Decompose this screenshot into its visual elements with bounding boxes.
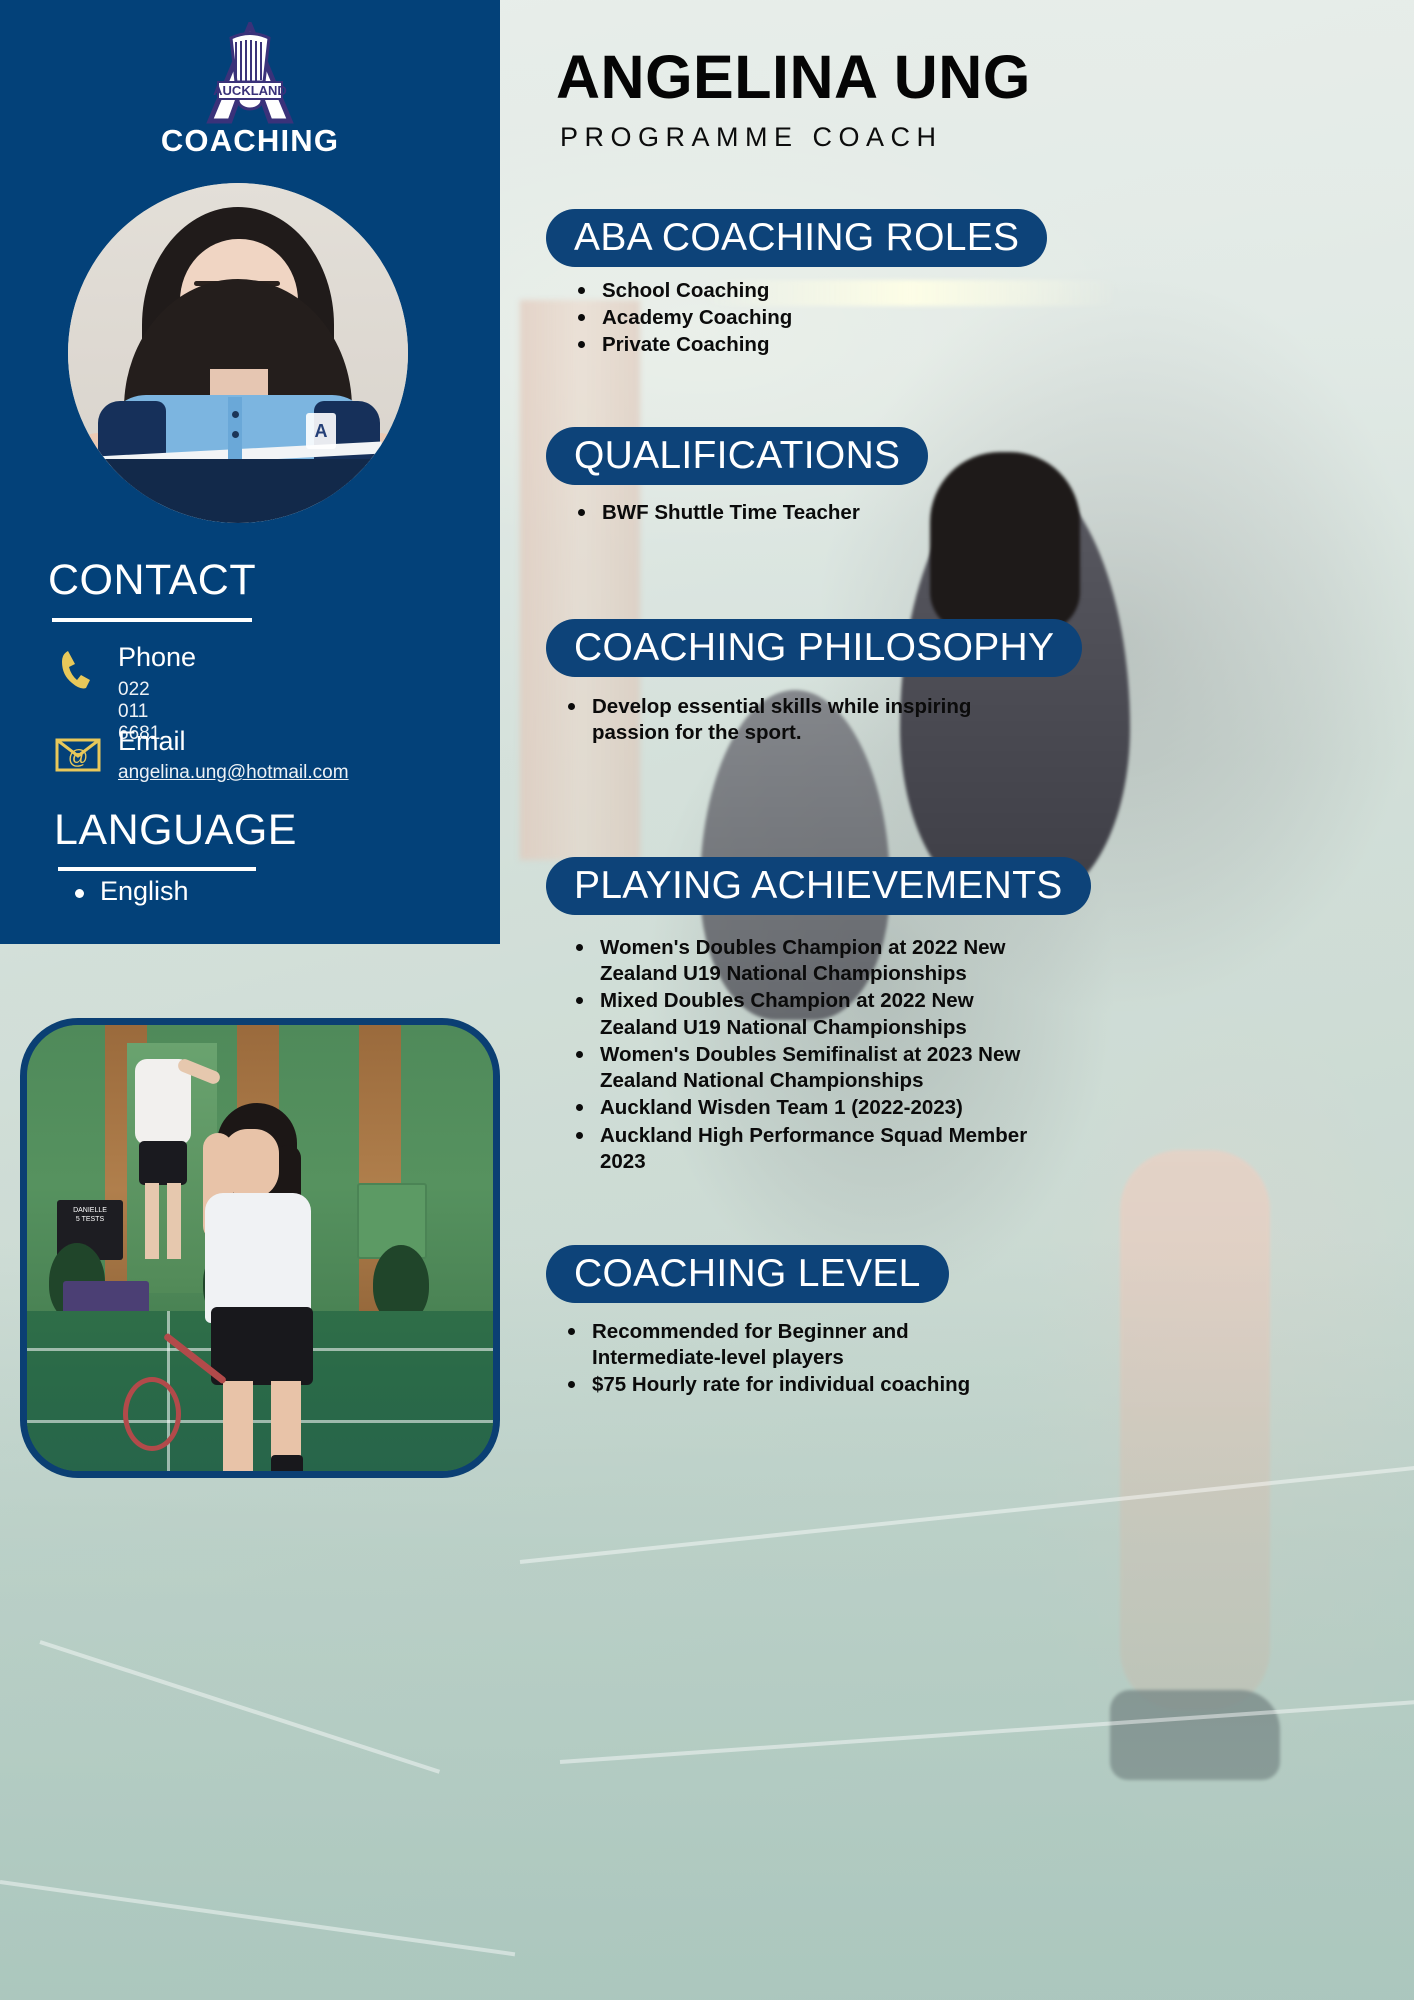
list-item: BWF Shuttle Time Teacher: [572, 500, 1212, 526]
list-item: Develop essential skills while inspiring…: [562, 694, 1022, 746]
language-bullet: [75, 889, 84, 898]
contact-heading: CONTACT: [48, 556, 256, 605]
list-item: Private Coaching: [572, 332, 1212, 358]
email-value[interactable]: angelina.ung@hotmail.com: [118, 762, 349, 784]
section-title-qualifications: QUALIFICATIONS: [546, 427, 928, 485]
phone-icon: [55, 646, 99, 695]
brand-logo: AUCKLAND: [0, 22, 500, 131]
photo-coach-shorts: [211, 1307, 313, 1385]
contact-divider: [52, 618, 252, 622]
photo-background-player-legs: [145, 1183, 159, 1259]
main-content: ANGELINA UNG PROGRAMME COACH ABA COACHIN…: [500, 0, 1414, 2000]
email-icon: @: [54, 735, 102, 780]
language-item-english: English: [100, 876, 189, 907]
section-list-qualifications: BWF Shuttle Time Teacher: [572, 500, 1212, 527]
language-heading: LANGUAGE: [54, 806, 297, 855]
section-title-aba-coaching-roles: ABA COACHING ROLES: [546, 209, 1047, 267]
photo-background-player-shorts: [139, 1141, 187, 1185]
list-item: Recommended for Beginner and Intermediat…: [562, 1319, 1032, 1371]
photo-court-line: [27, 1420, 493, 1423]
list-item: Women's Doubles Champion at 2022 New Zea…: [570, 935, 1030, 987]
avatar-club-badge: [306, 413, 336, 449]
photo-coach-shirt: [205, 1193, 311, 1323]
avatar-shirt-button: [232, 431, 239, 438]
photo-background-player-legs: [167, 1183, 181, 1259]
section-title-coaching-level: COACHING LEVEL: [546, 1245, 949, 1303]
list-item: Auckland High Performance Squad Member 2…: [570, 1123, 1030, 1175]
photo-coach-leg: [223, 1381, 253, 1478]
language-divider: [58, 867, 256, 871]
email-label: Email: [118, 726, 186, 757]
list-item: Women's Doubles Semifinalist at 2023 New…: [570, 1042, 1030, 1094]
svg-text:AUCKLAND: AUCKLAND: [213, 83, 287, 98]
action-photo: DANIELLE5 TESTS: [20, 1018, 500, 1478]
avatar-shirt-lower: [92, 459, 386, 523]
photo-coach-sock: [271, 1455, 303, 1478]
section-list-aba-coaching-roles: School Coaching Academy Coaching Private…: [572, 278, 1212, 360]
photo-racket-head: [123, 1377, 181, 1451]
list-item: Academy Coaching: [572, 305, 1212, 331]
list-item: Auckland Wisden Team 1 (2022-2023): [570, 1095, 1030, 1121]
list-item: Mixed Doubles Champion at 2022 New Zeala…: [570, 988, 1030, 1040]
page-title: ANGELINA UNG: [556, 42, 1396, 112]
section-title-coaching-philosophy: COACHING PHILOSOPHY: [546, 619, 1082, 677]
sidebar: AUCKLAND COACHING: [0, 0, 500, 944]
page-subtitle: PROGRAMME COACH: [560, 122, 1400, 153]
section-title-playing-achievements: PLAYING ACHIEVEMENTS: [546, 857, 1091, 915]
section-list-coaching-level: Recommended for Beginner and Intermediat…: [562, 1319, 1032, 1400]
phone-label: Phone: [118, 642, 196, 673]
coaching-word: COACHING: [0, 123, 500, 159]
coach-profile-poster: AUCKLAND COACHING: [0, 0, 1414, 2000]
avatar-shirt-button: [232, 411, 239, 418]
section-list-coaching-philosophy: Develop essential skills while inspiring…: [562, 694, 1022, 747]
avatar-shirt-placket: [228, 397, 242, 459]
list-item: School Coaching: [572, 278, 1212, 304]
svg-text:@: @: [68, 747, 88, 769]
avatar: [68, 183, 408, 523]
shuttlecock-a-logo-icon: AUCKLAND: [198, 22, 302, 126]
list-item: $75 Hourly rate for individual coaching: [562, 1372, 1032, 1398]
section-list-playing-achievements: Women's Doubles Champion at 2022 New Zea…: [570, 935, 1030, 1176]
